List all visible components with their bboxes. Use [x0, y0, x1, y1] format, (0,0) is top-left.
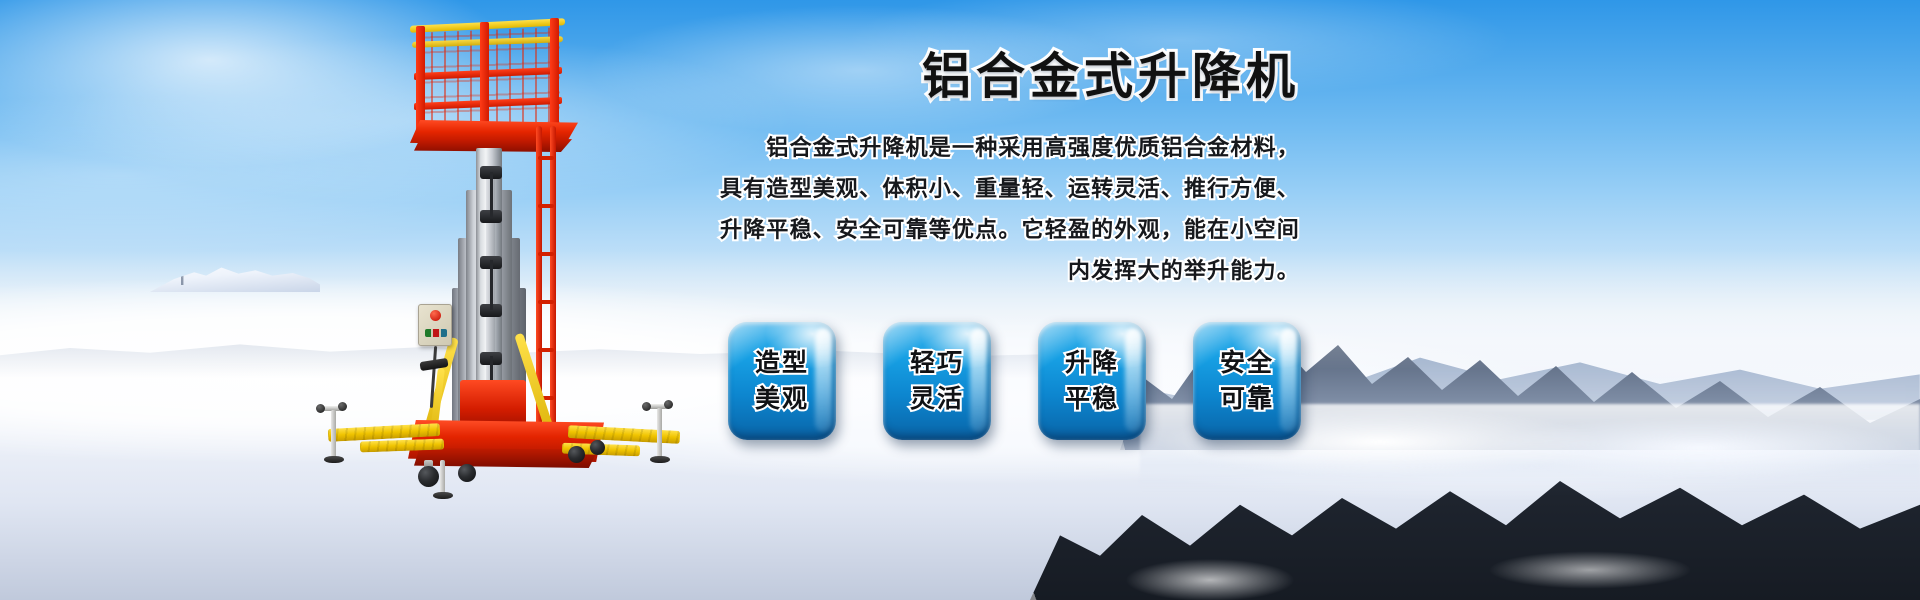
emergency-stop-button: [430, 310, 441, 321]
stabilizer-knob-right-a: [642, 402, 651, 411]
ladder-rung: [538, 204, 554, 208]
stabilizer-leg-left: [331, 410, 336, 458]
feature-box-line1: 升降: [1065, 345, 1119, 381]
ladder-rung: [538, 156, 554, 160]
description-line: 升降平稳、安全可靠等优点。它轻盈的外观，能在小空间: [720, 210, 1300, 251]
description-line: 内发挥大的举升能力。: [720, 251, 1300, 292]
control-box: [418, 304, 452, 346]
ladder-rung: [538, 300, 554, 304]
feature-box-line2: 灵活: [910, 381, 964, 417]
feature-box-line2: 美观: [755, 381, 809, 417]
text-column: 铝合金式升降机 铝合金式升降机是一种采用高强度优质铝合金材料， 具有造型美观、体…: [700, 0, 1920, 600]
description-line: 铝合金式升降机是一种采用高强度优质铝合金材料，: [720, 128, 1300, 169]
stabilizer-knob-left-b: [338, 402, 347, 411]
work-platform-cage: [410, 8, 565, 138]
feature-box-smooth-lift[interactable]: 升降 平稳: [1038, 322, 1146, 440]
ladder-rung: [538, 348, 554, 352]
wheel-front-left: [418, 466, 439, 487]
wheel-rear-right: [590, 440, 605, 455]
side-ladder: [536, 126, 556, 426]
product-banner: 铝合金式升降机 铝合金式升降机是一种采用高强度优质铝合金材料， 具有造型美观、体…: [0, 0, 1920, 600]
stabilizer-leg-right: [657, 408, 662, 458]
cage-post-left: [416, 26, 425, 132]
feature-box-line2: 可靠: [1220, 381, 1274, 417]
feature-box-line1: 安全: [1220, 345, 1274, 381]
stabilizer-foot-front: [433, 492, 453, 499]
feature-box-line2: 平稳: [1065, 381, 1119, 417]
feature-box-safety[interactable]: 安全 可靠: [1193, 322, 1301, 440]
ladder-rung: [538, 252, 554, 256]
stabilizer-foot-left: [324, 456, 344, 463]
feature-box-line1: 轻巧: [910, 345, 964, 381]
control-buttons: [425, 329, 447, 337]
description-block: 铝合金式升降机是一种采用高强度优质铝合金材料， 具有造型美观、体积小、重量轻、运…: [720, 128, 1300, 292]
mast-cable-1: [490, 172, 493, 218]
feature-box-lightweight[interactable]: 轻巧 灵活: [883, 322, 991, 440]
ladder-rail-right: [550, 126, 556, 426]
cage-post-center: [480, 22, 489, 134]
stabilizer-knob-left-a: [316, 404, 325, 413]
cage-post-right: [550, 18, 559, 130]
feature-box-appearance[interactable]: 造型 美观: [728, 322, 836, 440]
feature-box-line1: 造型: [755, 345, 809, 381]
stabilizer-leg-front: [440, 460, 445, 494]
stabilizer-foot-right: [650, 456, 670, 463]
stabilizer-knob-right-b: [664, 400, 673, 409]
aluminum-lift-machine: [300, 8, 690, 508]
mast-cable-2: [490, 260, 493, 310]
page-title: 铝合金式升降机: [922, 52, 1300, 101]
wheel-rear-left: [568, 446, 585, 463]
wheel-front-right: [458, 464, 476, 482]
description-line: 具有造型美观、体积小、重量轻、运转灵活、推行方便、: [720, 169, 1300, 210]
feature-box-row: 造型 美观 轻巧 灵活 升降 平稳 安全 可靠: [728, 322, 1301, 440]
